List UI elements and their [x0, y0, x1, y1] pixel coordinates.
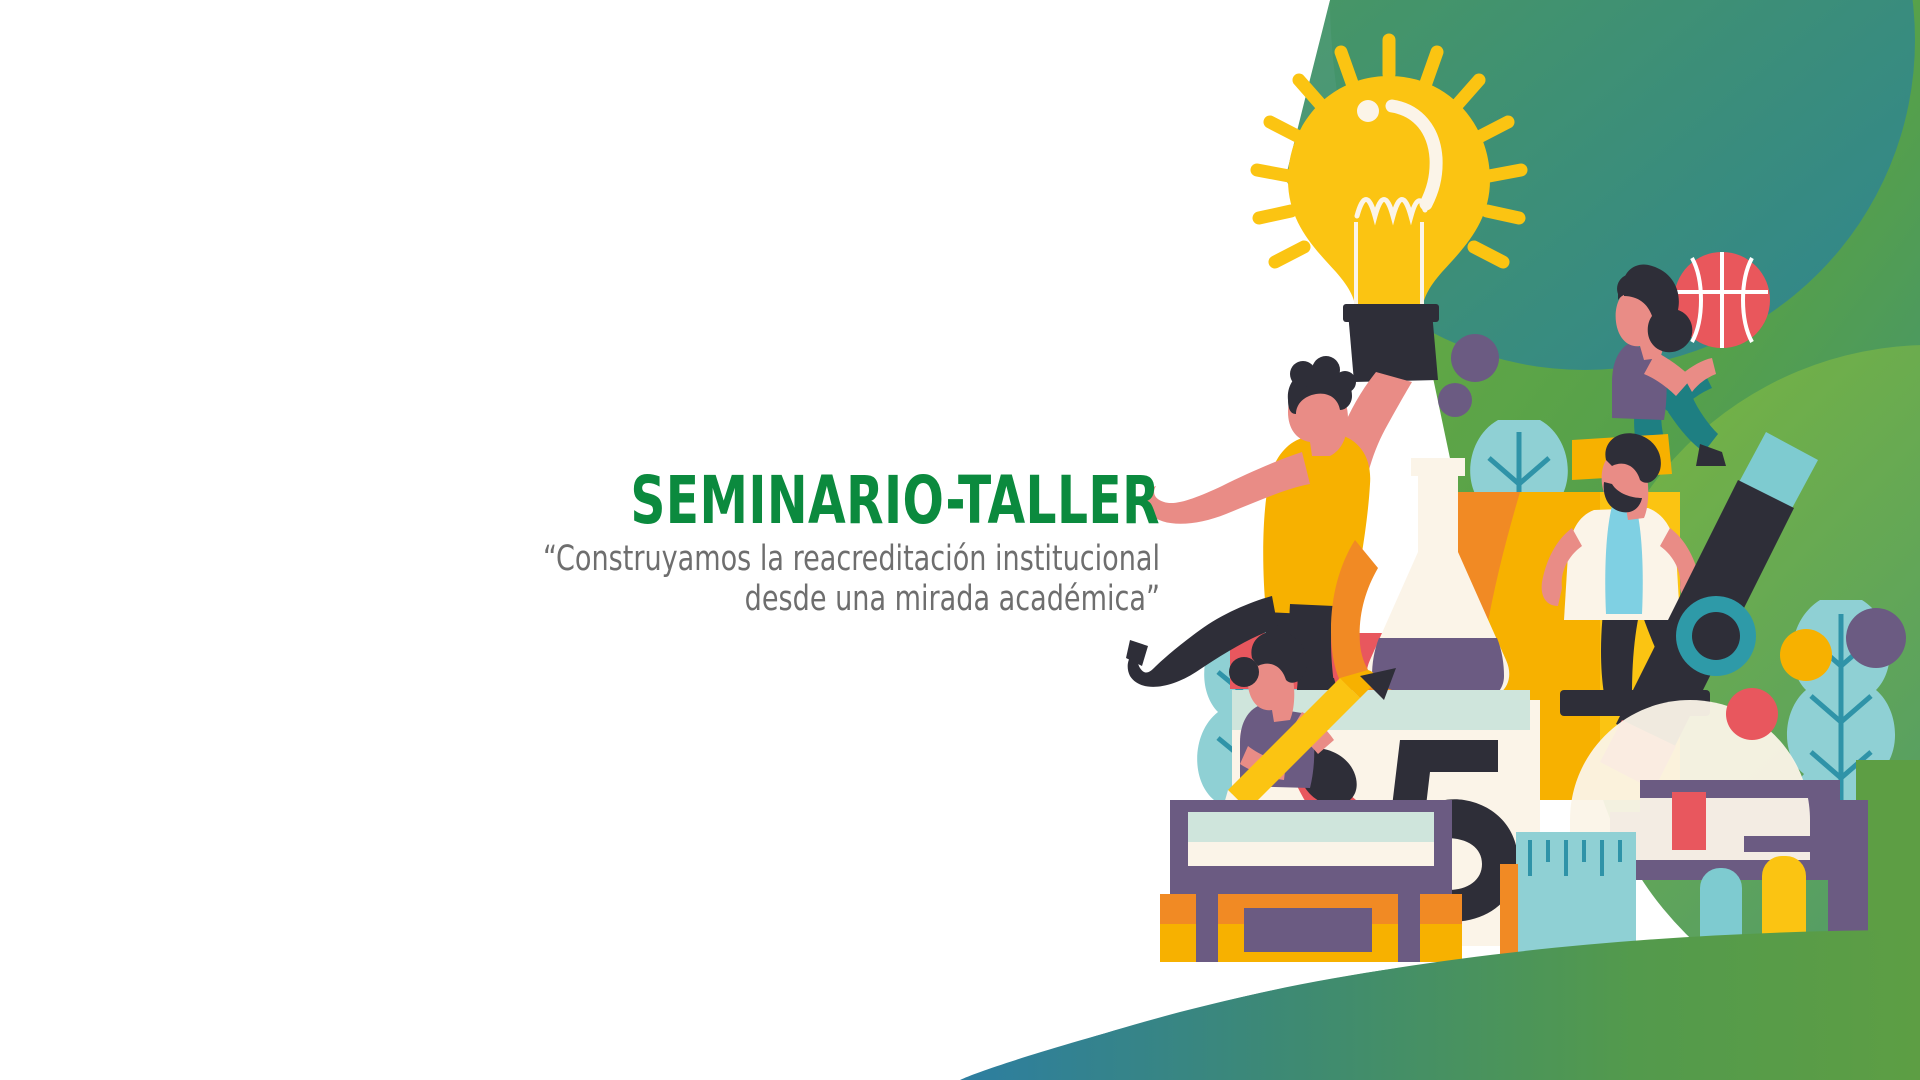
- banner-canvas: SEMINARIO-TALLER “Construyamos la reacre…: [0, 0, 1920, 1080]
- page-title: SEMINARIO-TALLER: [209, 470, 1160, 533]
- headline-block: SEMINARIO-TALLER “Construyamos la reacre…: [0, 470, 1160, 620]
- book-stack: [1160, 800, 1462, 962]
- page-subtitle: “Construyamos la reacreditación instituc…: [162, 539, 1160, 620]
